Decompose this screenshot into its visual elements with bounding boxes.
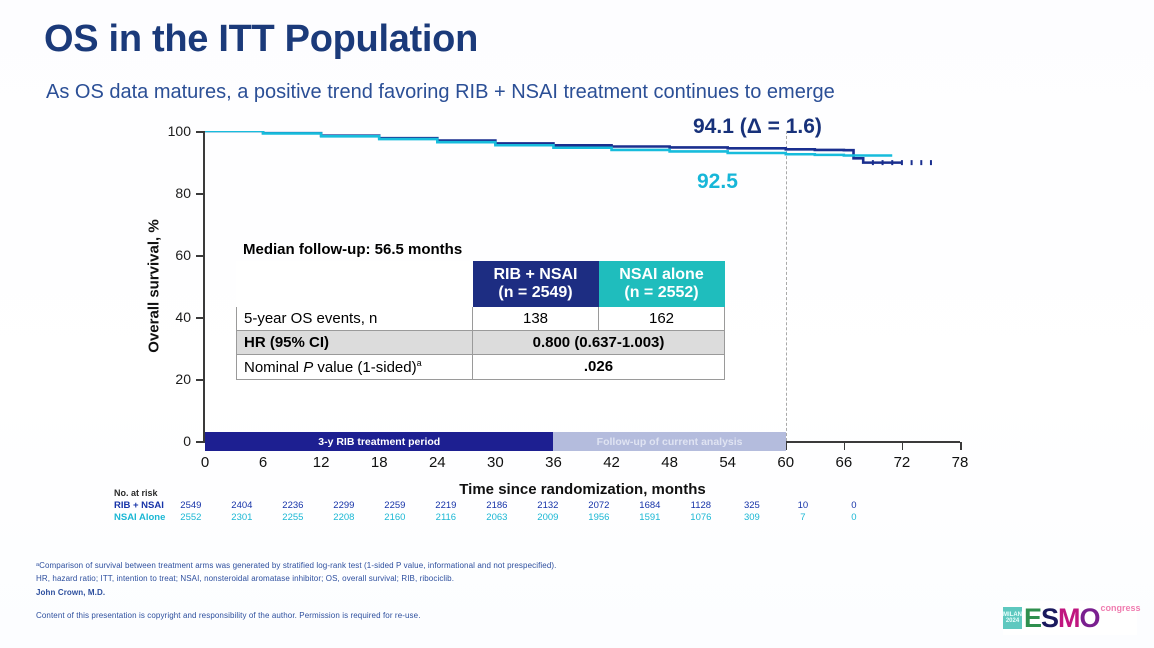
median-followup-label: Median follow-up: 56.5 months — [243, 241, 462, 258]
table-header-row: RIB + NSAI (n = 2549) NSAI alone (n = 25… — [237, 262, 725, 307]
annotation-nsai-value: 92.5 — [697, 170, 738, 194]
number-at-risk-value: 2186 — [471, 500, 522, 512]
esmo-badge: MILAN 2024 — [1003, 607, 1022, 629]
row-label-hr: HR (95% CI) — [237, 330, 473, 354]
number-at-risk-value: 0 — [828, 500, 879, 512]
number-at-risk-value: 2072 — [573, 500, 624, 512]
pvalue-label-sup: a — [417, 358, 422, 368]
table-header-nsai-line1: NSAI alone — [605, 266, 718, 284]
x-tick — [960, 442, 962, 450]
table-header-nsai: NSAI alone (n = 2552) — [599, 262, 725, 307]
x-tick — [902, 442, 904, 450]
y-tick-label: 80 — [151, 185, 191, 201]
y-tick-label: 20 — [151, 371, 191, 387]
number-at-risk-row-label: RIB + NSAI — [114, 500, 165, 512]
footnote-presenter: John Crown, M.D. — [36, 588, 105, 597]
number-at-risk-value: 2299 — [318, 500, 369, 512]
number-at-risk-row: NSAI Alone255223012255220821602116206320… — [114, 512, 879, 524]
cell-pvalue: .026 — [473, 354, 725, 379]
table-header-nsai-line2: (n = 2552) — [605, 284, 718, 302]
page-title: OS in the ITT Population — [44, 18, 478, 61]
number-at-risk-value: 2009 — [522, 512, 573, 524]
x-tick-label: 12 — [313, 454, 330, 471]
x-tick-label: 6 — [259, 454, 267, 471]
treatment-period-bar: 3-y RIB treatment period — [205, 432, 553, 451]
esmo-letter-m: M — [1058, 603, 1080, 633]
pvalue-label-italic: P — [303, 359, 313, 376]
table-header-rib: RIB + NSAI (n = 2549) — [473, 262, 599, 307]
esmo-congress-label: congress — [1101, 603, 1141, 613]
y-tick-label: 0 — [151, 433, 191, 449]
x-tick-label: 78 — [952, 454, 969, 471]
table-row: 5-year OS events, n 138 162 — [237, 306, 725, 330]
cell-os-events-nsai: 162 — [599, 306, 725, 330]
table-row: HR (95% CI) 0.800 (0.637-1.003) — [237, 330, 725, 354]
esmo-letter-e: E — [1024, 603, 1041, 633]
slide-root: OS in the ITT Population As OS data matu… — [0, 0, 1154, 648]
esmo-letter-s: S — [1041, 603, 1058, 633]
number-at-risk-value: 2219 — [420, 500, 471, 512]
y-tick — [196, 317, 204, 319]
y-axis-label: Overall survival, % — [146, 219, 163, 352]
y-tick-label: 40 — [151, 309, 191, 325]
cell-os-events-rib: 138 — [473, 306, 599, 330]
y-tick — [196, 131, 204, 133]
x-tick-label: 66 — [836, 454, 853, 471]
row-label-pvalue: Nominal P value (1-sided)a — [237, 354, 473, 379]
row-label-os-events: 5-year OS events, n — [237, 306, 473, 330]
x-tick-label: 54 — [719, 454, 736, 471]
x-tick — [844, 442, 846, 450]
number-at-risk-value: 2549 — [165, 500, 216, 512]
x-tick — [786, 442, 788, 450]
number-at-risk-value: 2259 — [369, 500, 420, 512]
number-at-risk-value: 7 — [777, 512, 828, 524]
table-corner-cell — [237, 262, 473, 307]
y-tick-label: 60 — [151, 247, 191, 263]
number-at-risk-value: 1956 — [573, 512, 624, 524]
esmo-logo: MILAN 2024 ESMO congress — [1003, 601, 1137, 635]
treatment-period-label: 3-y RIB treatment period — [318, 436, 440, 448]
x-tick-label: 0 — [201, 454, 209, 471]
x-tick-label: 30 — [487, 454, 504, 471]
number-at-risk-value: 2255 — [267, 512, 318, 524]
number-at-risk-heading: No. at risk — [114, 488, 879, 498]
y-tick — [196, 255, 204, 257]
pvalue-label-post: value (1-sided) — [313, 359, 416, 376]
number-at-risk-table: RIB + NSAI254924042236229922592219218621… — [114, 500, 879, 524]
x-tick-label: 60 — [777, 454, 794, 471]
cell-hr-value: 0.800 (0.637-1.003) — [473, 330, 725, 354]
number-at-risk-value: 1591 — [624, 512, 675, 524]
number-at-risk-value: 2404 — [216, 500, 267, 512]
page-subtitle: As OS data matures, a positive trend fav… — [46, 81, 835, 104]
x-tick-label: 24 — [429, 454, 446, 471]
number-at-risk-row: RIB + NSAI254924042236229922592219218621… — [114, 500, 879, 512]
number-at-risk-value: 1076 — [675, 512, 726, 524]
footnote-methods: ᵃComparison of survival between treatmen… — [36, 561, 557, 570]
y-tick-label: 100 — [151, 123, 191, 139]
number-at-risk-value: 2208 — [318, 512, 369, 524]
number-at-risk-value: 1684 — [624, 500, 675, 512]
annotation-rib-value: 94.1 (Δ = 1.6) — [693, 115, 822, 139]
footnote-abbreviations: HR, hazard ratio; ITT, intention to trea… — [36, 574, 454, 583]
number-at-risk-value: 2063 — [471, 512, 522, 524]
number-at-risk-value: 2236 — [267, 500, 318, 512]
x-tick-label: 18 — [371, 454, 388, 471]
table-header-rib-line2: (n = 2549) — [479, 284, 592, 302]
footnote-copyright: Content of this presentation is copyrigh… — [36, 611, 421, 620]
number-at-risk-value: 2116 — [420, 512, 471, 524]
y-tick — [196, 441, 204, 443]
number-at-risk-value: 10 — [777, 500, 828, 512]
y-tick — [196, 193, 204, 195]
esmo-letter-o: O — [1080, 603, 1100, 633]
y-tick — [196, 379, 204, 381]
followup-period-label: Follow-up of current analysis — [597, 436, 743, 448]
x-tick-label: 72 — [894, 454, 911, 471]
number-at-risk-value: 2301 — [216, 512, 267, 524]
number-at-risk-value: 2132 — [522, 500, 573, 512]
number-at-risk-value: 0 — [828, 512, 879, 524]
pvalue-label-pre: Nominal — [244, 359, 303, 376]
y-axis-label-wrap: Overall survival, % — [143, 131, 165, 441]
x-tick-label: 36 — [545, 454, 562, 471]
number-at-risk-row-label: NSAI Alone — [114, 512, 165, 524]
number-at-risk-value: 309 — [726, 512, 777, 524]
esmo-wordmark: ESMO — [1024, 603, 1100, 634]
number-at-risk-value: 2552 — [165, 512, 216, 524]
number-at-risk-block: No. at risk RIB + NSAI254924042236229922… — [114, 488, 879, 524]
table-header-rib-line1: RIB + NSAI — [479, 266, 592, 284]
table-row: Nominal P value (1-sided)a .026 — [237, 354, 725, 379]
results-table: RIB + NSAI (n = 2549) NSAI alone (n = 25… — [236, 261, 725, 380]
x-tick-label: 42 — [603, 454, 620, 471]
x-tick-label: 48 — [661, 454, 678, 471]
number-at-risk-value: 2160 — [369, 512, 420, 524]
number-at-risk-value: 1128 — [675, 500, 726, 512]
number-at-risk-value: 325 — [726, 500, 777, 512]
followup-period-bar: Follow-up of current analysis — [553, 432, 785, 451]
